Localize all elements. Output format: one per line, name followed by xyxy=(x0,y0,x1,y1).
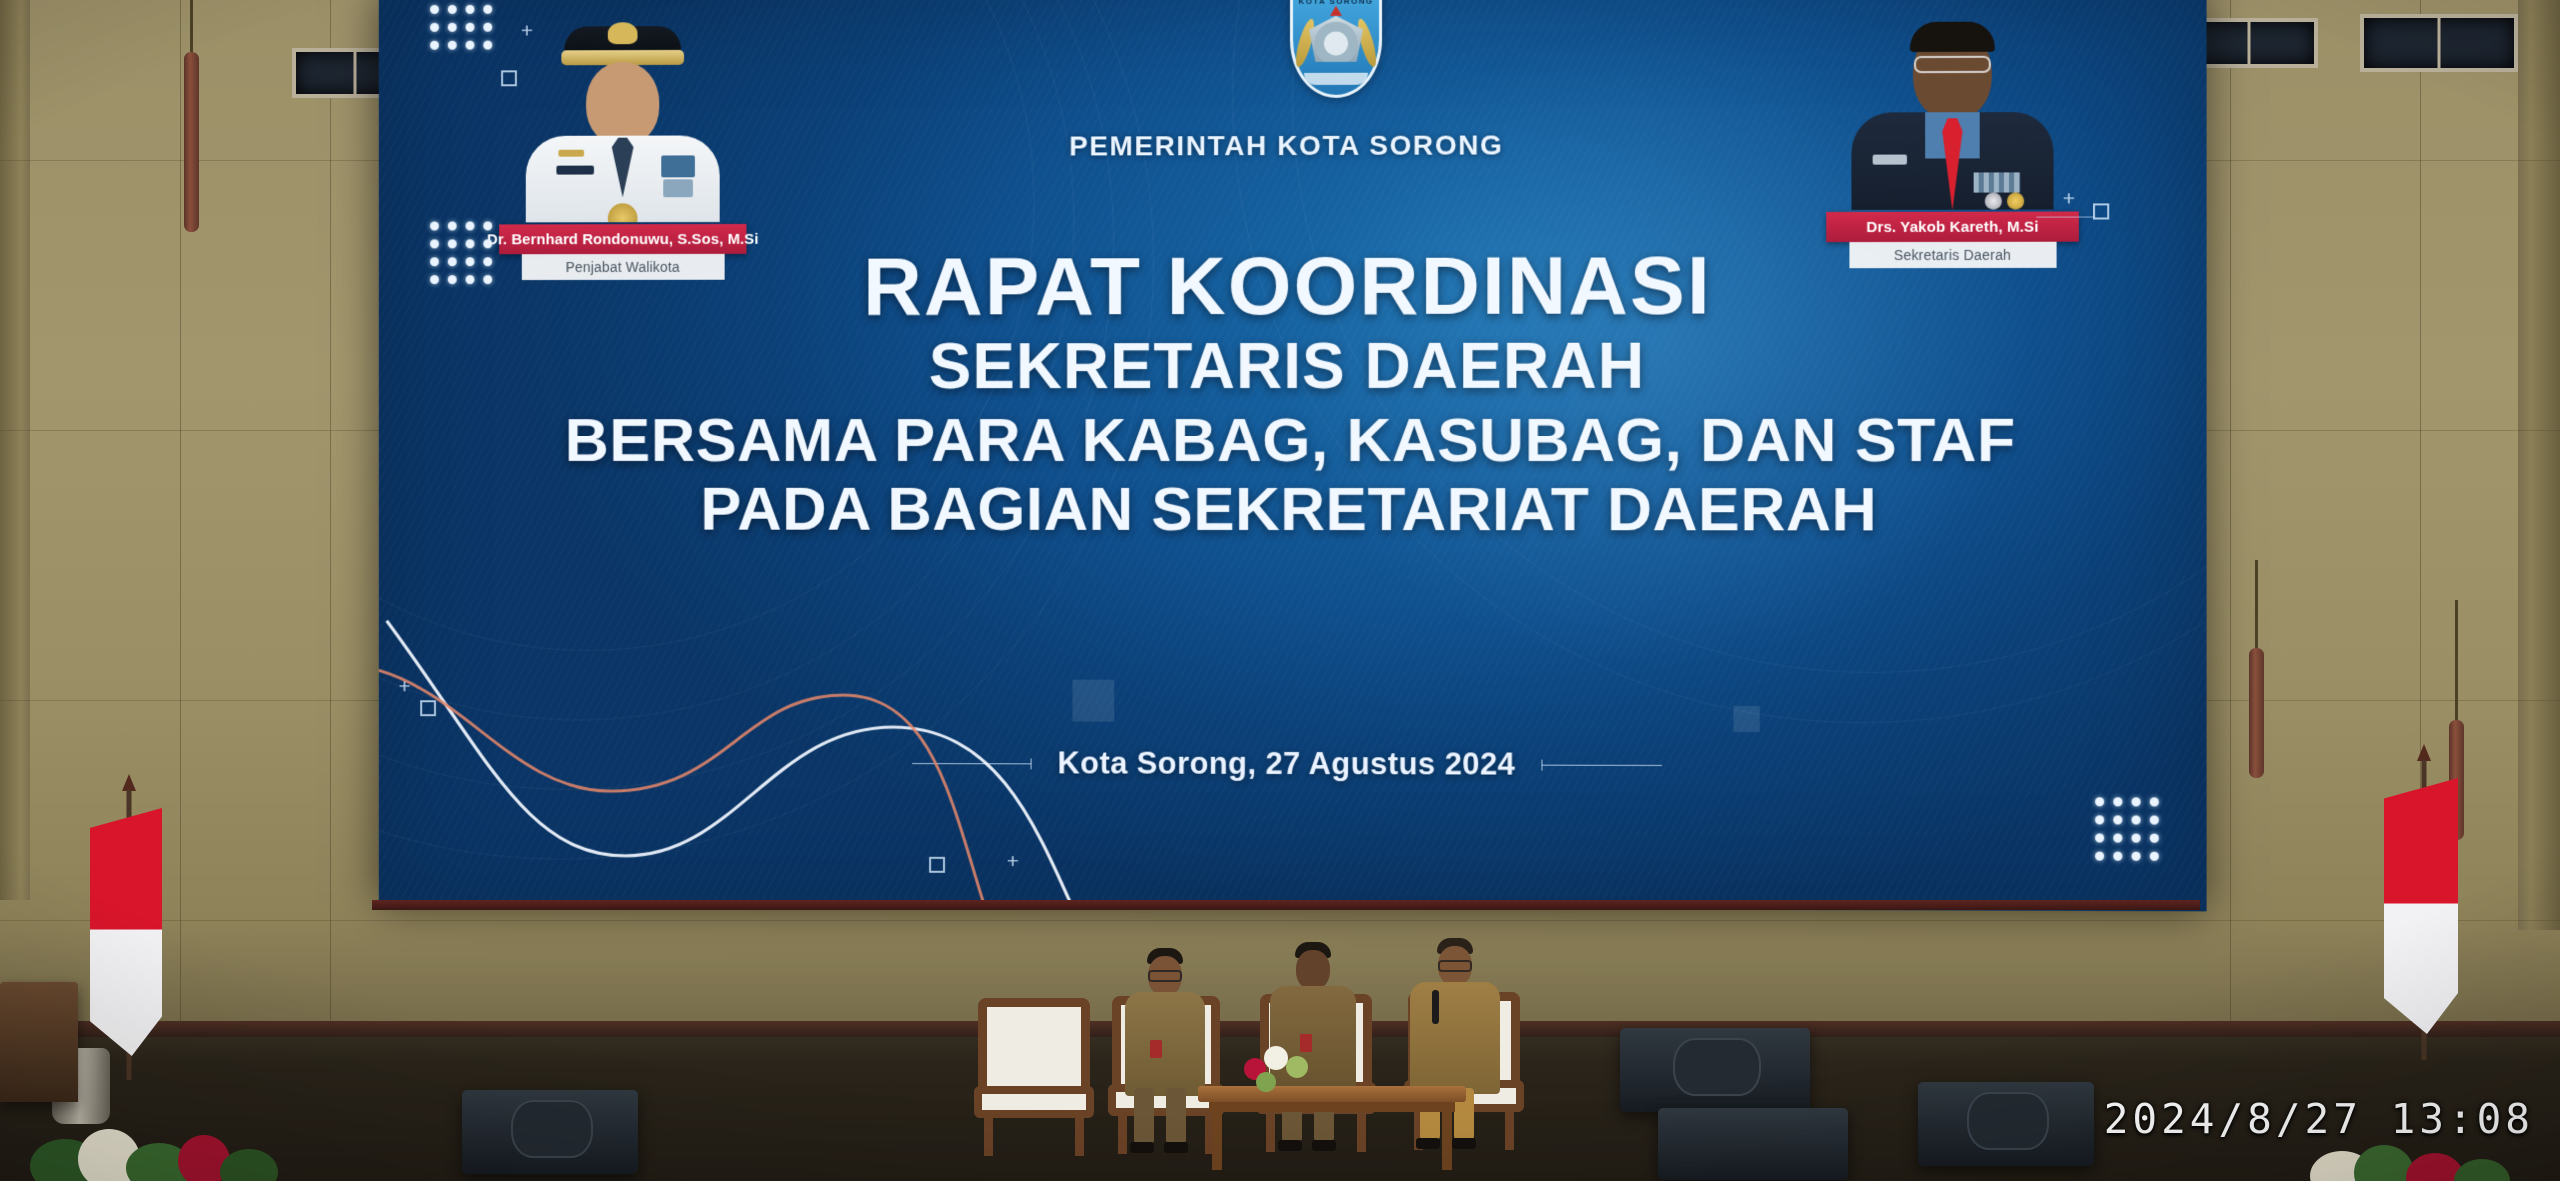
official-card-right: Drs. Yakob Kareth, M.Si Sekretaris Daera… xyxy=(1826,0,2079,268)
cap-emblem-icon xyxy=(608,22,638,44)
id-card-icon xyxy=(1150,1040,1162,1058)
medal-icon xyxy=(1985,193,2002,210)
stage-monitor-speaker xyxy=(462,1090,638,1174)
official-photo-left xyxy=(499,8,746,223)
official-figure-right xyxy=(1826,0,2079,210)
date-rule-right xyxy=(1541,764,1662,765)
camera-timestamp: 2024/8/27 13:08 xyxy=(2104,1095,2534,1143)
stage-monitor-speaker xyxy=(1918,1082,2094,1166)
square-mark-icon xyxy=(420,700,436,716)
title-line-2: SEKRETARIS DAERAH xyxy=(379,332,2207,400)
indonesian-flag-left xyxy=(92,790,166,1080)
kota-sorong-coat-of-arms-icon: KOTA SORONG xyxy=(1290,0,1382,98)
photograph-of-meeting-hall: KOTA SORONG PEMERINTAH KOTA SORONG xyxy=(0,0,2560,1181)
indonesian-flag-right xyxy=(2386,760,2462,1060)
wall-seam xyxy=(0,920,2560,921)
plus-mark-icon: + xyxy=(399,676,411,697)
medal-ribbons-icon xyxy=(1974,172,2021,192)
plus-mark-icon: + xyxy=(1007,851,1019,872)
title-line-4: PADA BAGIAN SEKRETARIAT DAERAH xyxy=(379,477,2207,543)
medal-ribbons-icon xyxy=(661,155,695,177)
official-photo-right xyxy=(1826,0,2079,210)
name-tag-icon xyxy=(556,166,594,175)
wall-seam xyxy=(330,0,331,1181)
microphone-icon xyxy=(1432,990,1439,1024)
medal-ribbons-icon xyxy=(663,179,693,197)
stage-monitor-speaker xyxy=(1658,1108,1848,1180)
square-mark-icon xyxy=(2093,203,2109,219)
dash-mark xyxy=(2036,217,2095,218)
wall-column-left xyxy=(0,0,30,900)
dot-grid-left xyxy=(430,221,492,284)
plus-mark-icon: + xyxy=(521,21,533,42)
foreground-flowers-left xyxy=(30,1115,280,1181)
square-accent xyxy=(1072,680,1114,722)
square-mark-icon xyxy=(501,70,517,86)
hair-icon xyxy=(1910,22,1995,52)
medal-icon xyxy=(2007,192,2024,209)
hanging-lamp xyxy=(2249,648,2264,778)
coffee-table xyxy=(1198,1086,1466,1172)
official-figure-left xyxy=(499,8,746,223)
hanging-lamp-rod xyxy=(2255,560,2258,648)
eyeglasses-icon xyxy=(1148,970,1182,982)
eyeglasses-icon xyxy=(1438,960,1472,972)
hanging-lamp-rod xyxy=(2455,600,2458,720)
eyeglasses-icon xyxy=(1914,56,1991,73)
stage-monitor-speaker xyxy=(1620,1028,1810,1112)
hanging-lamp-rod xyxy=(190,0,193,52)
square-mark-icon xyxy=(929,857,945,873)
rank-insignia-icon xyxy=(558,150,584,157)
hanging-lamp xyxy=(184,52,199,232)
name-tag-icon xyxy=(1873,155,1907,165)
title-line-3: BERSAMA PARA KABAG, KASUBAG, DAN STAF xyxy=(379,408,2207,474)
dot-grid-top-left xyxy=(430,0,492,50)
screen-bottom-frame xyxy=(372,900,2200,910)
empty-chair xyxy=(978,998,1090,1156)
wall-seam xyxy=(180,0,181,1181)
square-accent xyxy=(1734,706,1760,732)
dot-grid-bottom-right xyxy=(2095,797,2159,861)
wall-dark-panel xyxy=(2360,14,2518,72)
decorative-wave-curves xyxy=(379,607,1132,908)
title-line-1: RAPAT KOORDINASI xyxy=(379,243,2207,329)
slide-title-block: RAPAT KOORDINASI SEKRETARIS DAERAH BERSA… xyxy=(379,243,2207,542)
table-flowers xyxy=(1238,1038,1324,1094)
official-head-left xyxy=(586,62,659,146)
side-table xyxy=(0,982,78,1102)
wall-seam xyxy=(2230,0,2231,1181)
wall-column-right xyxy=(2518,0,2560,930)
official-card-left: Dr. Bernhard Rondonuwu, S.Sos, M.Si Penj… xyxy=(499,8,746,280)
projection-screen: KOTA SORONG PEMERINTAH KOTA SORONG xyxy=(379,0,2207,911)
plus-mark-icon: + xyxy=(2063,188,2075,209)
